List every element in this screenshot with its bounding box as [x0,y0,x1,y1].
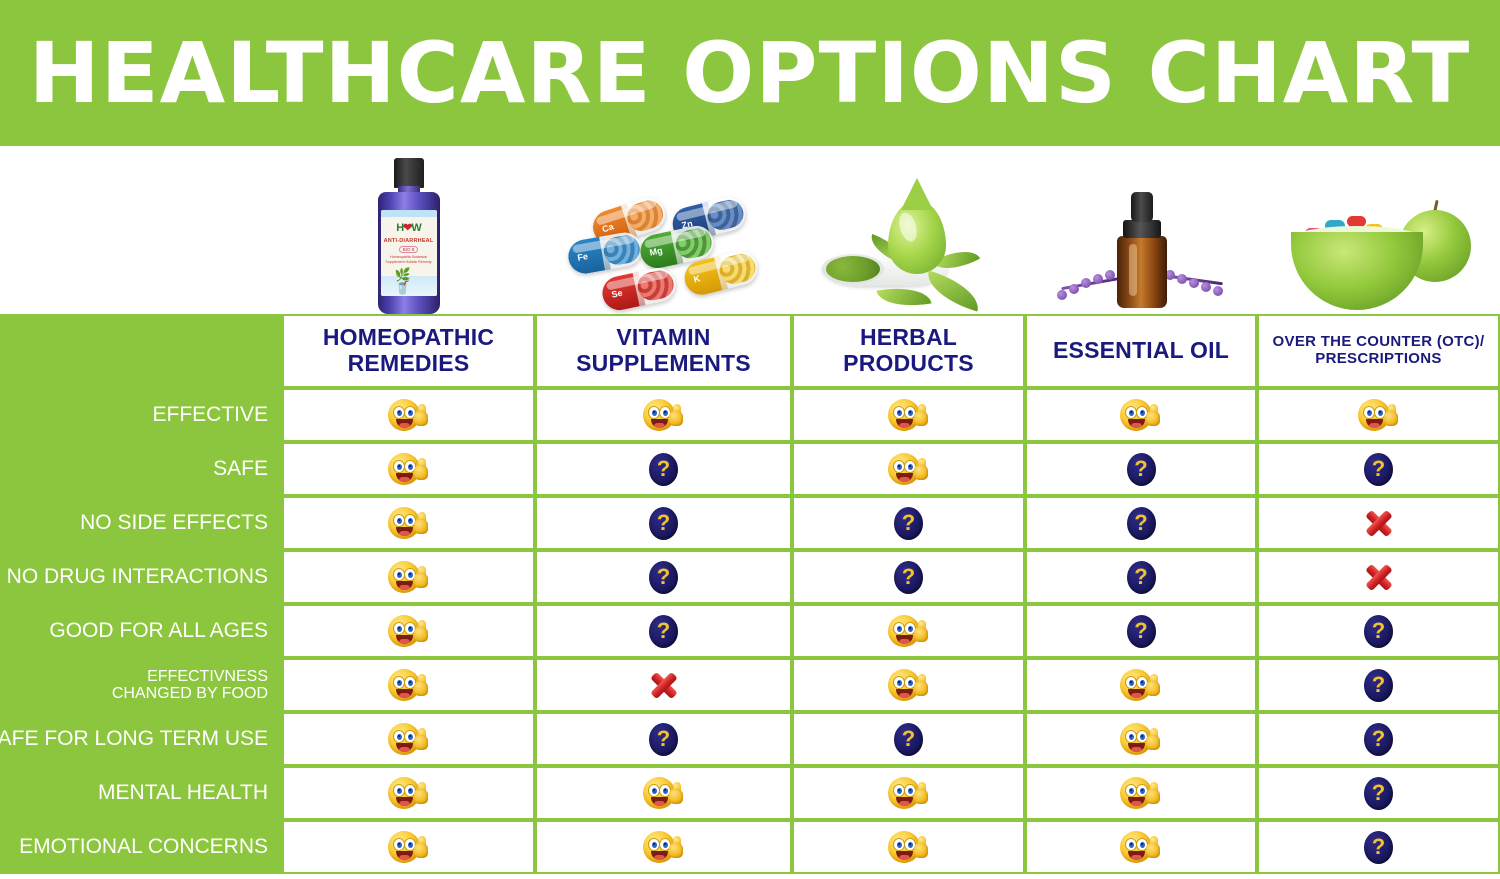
table-corner-cell [0,314,282,388]
smiley-thumbs-up-icon [888,614,930,648]
row-header-label: NO SIDE EFFECTS [80,512,268,535]
column-header-essential-oil: ESSENTIAL OIL [1025,314,1257,388]
smiley-thumbs-up-icon [643,776,685,810]
cell-value-maybe: ? [537,606,790,656]
cell-mental-health-otc: ? [1257,766,1500,820]
smiley-thumbs-up-icon [388,776,430,810]
cell-value-maybe: ? [1027,444,1255,494]
row-header-label: EFFECTIVNESS CHANGED BY FOOD [112,668,268,703]
thumb-up-icon [414,512,430,534]
question-mark-icon: ? [1127,507,1156,540]
capsule-red: Se [599,265,678,314]
thumb-up-icon [414,782,430,804]
leaf-icon [921,271,984,312]
column-header-line2: PRESCRIPTIONS [1273,351,1485,368]
cell-safe-for-long-term-use-essential-oil [1025,712,1257,766]
eye-icon [893,784,905,797]
cell-no-drug-interactions-homeopathic [282,550,535,604]
cell-emotional-concerns-vitamin [535,820,792,874]
table-row: GOOD FOR ALL AGES ? ? [0,604,1500,658]
thumb-up-icon [669,782,685,804]
cell-value-yes [1027,660,1255,710]
thumb-up-icon [1146,782,1162,804]
eye-icon [648,406,660,419]
cell-no-side-effects-otc [1257,496,1500,550]
cell-value-maybe: ? [537,498,790,548]
question-mark-icon: ? [1364,723,1393,756]
cell-value-maybe: ? [1259,660,1498,710]
cell-effectiveness-changed-by-food-homeopathic [282,658,535,712]
bottle-label: H❤W ANTI-DIARRHEAL BIO 8 Homeopathic Bot… [381,210,437,296]
column-header-vitamin: VITAMIN SUPPLEMENTS [535,314,792,388]
mouth-icon [896,689,913,698]
question-mark-icon: ? [649,561,678,594]
cell-no-drug-interactions-vitamin: ? [535,550,792,604]
red-x-icon [1364,563,1394,591]
cell-mental-health-homeopathic [282,766,535,820]
smiley-thumbs-up-icon [388,560,430,594]
row-header-emotional-concerns: EMOTIONAL CONCERNS [0,820,282,874]
cell-value-yes [794,444,1023,494]
row-header-label: NO DRUG INTERACTIONS [7,566,268,589]
mouth-icon [396,797,413,806]
smiley-thumbs-up-icon [1120,776,1162,810]
page-title: HEALTHCARE OPTIONS CHART [29,31,1471,115]
cell-value-yes [794,390,1023,440]
smiley-thumbs-up-icon [1120,398,1162,432]
smiley-thumbs-up-icon [388,722,430,756]
cell-effectiveness-changed-by-food-herbal [792,658,1025,712]
question-mark-icon: ? [649,723,678,756]
cell-mental-health-vitamin [535,766,792,820]
cell-value-yes [794,606,1023,656]
lavender-bud-icon [1069,284,1079,294]
row-header-label: SAFE FOR LONG TERM USE [0,728,268,751]
column-header-line2: REMEDIES [323,351,494,377]
cell-value-maybe: ? [1027,498,1255,548]
cell-safe-herbal [792,442,1025,496]
smiley-thumbs-up-icon [388,398,430,432]
capsule-tag: Fe [576,251,588,263]
smiley-thumbs-up-icon [388,614,430,648]
cell-value-yes [284,660,533,710]
lavender-bud-icon [1189,278,1199,288]
cell-value-maybe: ? [1259,444,1498,494]
thumb-up-icon [669,836,685,858]
thumb-up-icon [1146,404,1162,426]
column-header-label: VITAMIN SUPPLEMENTS [576,325,751,377]
row-header-label: EFFECTIVE [152,404,268,427]
thumb-up-icon [414,836,430,858]
essential-oil-image [1025,146,1257,314]
smiley-thumbs-up-icon [388,506,430,540]
eye-icon [393,568,405,581]
cell-value-yes [537,822,790,872]
thumb-up-icon [414,458,430,480]
essential-oil-graphic [1053,190,1229,314]
thumb-up-icon [414,674,430,696]
table-header-row: HOMEOPATHIC REMEDIES VITAMIN SUPPLEMENTS… [0,314,1500,388]
column-header-line2: PRODUCTS [843,351,974,377]
smiley-thumbs-up-icon [1358,398,1400,432]
eye-icon [648,838,660,851]
label-top-stripe-icon [381,210,437,217]
cell-value-yes [794,660,1023,710]
apple-bowl-icon [1291,232,1423,310]
cell-safe-for-long-term-use-herbal: ? [792,712,1025,766]
cell-effective-essential-oil [1025,388,1257,442]
cell-good-for-all-ages-homeopathic [282,604,535,658]
table-row: EMOTIONAL CONCERNS [0,820,1500,874]
column-header-line2: SUPPLEMENTS [576,351,751,377]
mouth-icon [896,797,913,806]
question-mark-icon: ? [1127,453,1156,486]
cell-value-yes [284,714,533,764]
brand-logo: H❤W [396,221,421,234]
cell-value-yes [1027,768,1255,818]
product-image-strip: H❤W ANTI-DIARRHEAL BIO 8 Homeopathic Bot… [0,146,1500,314]
question-mark-icon: ? [1364,615,1393,648]
cell-mental-health-herbal [792,766,1025,820]
cell-value-yes [1027,390,1255,440]
thumb-up-icon [914,782,930,804]
column-header-herbal: HERBAL PRODUCTS [792,314,1025,388]
healthcare-options-table: HOMEOPATHIC REMEDIES VITAMIN SUPPLEMENTS… [0,314,1500,874]
question-mark-icon: ? [1364,453,1393,486]
column-header-label: HOMEOPATHIC REMEDIES [323,325,494,377]
cell-emotional-concerns-herbal [792,820,1025,874]
mouth-icon [396,851,413,860]
mouth-icon [1128,689,1145,698]
cell-value-maybe: ? [1259,822,1498,872]
cell-value-yes [794,768,1023,818]
otc-prescriptions-image [1257,146,1500,314]
cell-no-drug-interactions-herbal: ? [792,550,1025,604]
eye-icon [1363,406,1375,419]
question-mark-icon: ? [1364,831,1393,864]
row-header-label: SAFE [213,458,268,481]
mouth-icon [396,527,413,536]
cell-value-yes [1259,390,1498,440]
eye-icon [893,838,905,851]
column-header-line1: ESSENTIAL OIL [1053,338,1229,364]
oil-bottle-highlight-icon [1129,244,1137,296]
thumb-up-icon [1146,728,1162,750]
question-mark-icon: ? [1127,615,1156,648]
column-header-line1: VITAMIN [576,325,751,351]
smiley-thumbs-up-icon [388,668,430,702]
capsule-blue: Fe [565,230,644,276]
cell-value-no [537,660,790,710]
smiley-thumbs-up-icon [388,830,430,864]
cell-value-maybe: ? [1027,552,1255,602]
row-header-line1: EFFECTIVNESS [112,668,268,685]
question-mark-icon: ? [649,507,678,540]
cell-safe-for-long-term-use-otc: ? [1257,712,1500,766]
red-x-icon [649,671,679,699]
lavender-bud-icon [1201,282,1211,292]
dried-herbs-icon [826,256,880,282]
smiley-thumbs-up-icon [1120,722,1162,756]
row-header-no-drug-interactions: NO DRUG INTERACTIONS [0,550,282,604]
lavender-bud-icon [1177,274,1187,284]
column-header-otc: OVER THE COUNTER (OTC)/ PRESCRIPTIONS [1257,314,1500,388]
cell-no-drug-interactions-essential-oil: ? [1025,550,1257,604]
row-header-safe-for-long-term-use: SAFE FOR LONG TERM USE [0,712,282,766]
row-header-good-for-all-ages: GOOD FOR ALL AGES [0,604,282,658]
cell-value-maybe: ? [537,714,790,764]
herbal-graphic [816,194,1002,314]
cell-value-yes [284,606,533,656]
mouth-icon [396,419,413,428]
cell-value-yes [284,552,533,602]
cell-no-side-effects-homeopathic [282,496,535,550]
mouth-icon [896,635,913,644]
image-strip-spacer [0,146,282,314]
cell-no-drug-interactions-otc [1257,550,1500,604]
column-header-line1: OVER THE COUNTER (OTC)/ [1273,334,1485,351]
eye-icon [893,460,905,473]
table-row: EFFECTIVNESS CHANGED BY FOOD [0,658,1500,712]
eye-icon [393,514,405,527]
cell-emotional-concerns-homeopathic [282,820,535,874]
cell-effective-vitamin [535,388,792,442]
green-droplet-icon [888,200,946,274]
cell-value-maybe: ? [537,444,790,494]
mortar-herbs-icon: 🌿🥤 [395,268,423,294]
lavender-bud-icon [1213,286,1223,296]
cell-good-for-all-ages-otc: ? [1257,604,1500,658]
homeopathic-bottle-image: H❤W ANTI-DIARRHEAL BIO 8 Homeopathic Bot… [282,146,535,314]
question-mark-icon: ? [649,453,678,486]
cell-safe-homeopathic [282,442,535,496]
cell-safe-otc: ? [1257,442,1500,496]
red-x-icon [1364,509,1394,537]
table-row: SAFE FOR LONG TERM USE ? ? [0,712,1500,766]
table-row: EFFECTIVE [0,388,1500,442]
mouth-icon [396,581,413,590]
cell-value-yes [284,390,533,440]
thumb-up-icon [414,404,430,426]
thumb-up-icon [914,620,930,642]
eye-icon [393,460,405,473]
cell-value-maybe: ? [537,552,790,602]
bottle-label-subtitle: Homeopathic Botanical Supplement Holisti… [381,255,437,264]
row-header-label: GOOD FOR ALL AGES [49,620,268,643]
cell-value-yes [1027,714,1255,764]
cell-value-no [1259,498,1498,548]
row-header-label: MENTAL HEALTH [98,782,268,805]
cell-value-maybe: ? [794,714,1023,764]
lavender-bud-icon [1057,290,1067,300]
cell-value-maybe: ? [1027,606,1255,656]
herbal-products-image [792,146,1025,314]
cell-effectiveness-changed-by-food-vitamin [535,658,792,712]
mouth-icon [396,635,413,644]
smiley-thumbs-up-icon [888,776,930,810]
thumb-up-icon [914,674,930,696]
cell-value-yes [537,768,790,818]
smiley-thumbs-up-icon [388,452,430,486]
cell-good-for-all-ages-vitamin: ? [535,604,792,658]
column-header-line1: HERBAL [843,325,974,351]
mouth-icon [1128,419,1145,428]
cell-value-maybe: ? [1259,768,1498,818]
cell-value-maybe: ? [794,498,1023,548]
mouth-icon [1366,419,1383,428]
smiley-thumbs-up-icon [643,830,685,864]
cell-effective-otc [1257,388,1500,442]
cell-value-yes [284,498,533,548]
cell-no-side-effects-vitamin: ? [535,496,792,550]
thumb-up-icon [914,404,930,426]
thumb-up-icon [414,620,430,642]
mouth-icon [896,419,913,428]
table-row: NO DRUG INTERACTIONS ? ? ? [0,550,1500,604]
column-header-label: OVER THE COUNTER (OTC)/ PRESCRIPTIONS [1273,334,1485,368]
cell-effective-herbal [792,388,1025,442]
cell-emotional-concerns-essential-oil [1025,820,1257,874]
cell-value-yes [284,444,533,494]
column-header-line1: HOMEOPATHIC [323,325,494,351]
cell-value-yes [537,390,790,440]
thumb-up-icon [914,836,930,858]
title-banner: HEALTHCARE OPTIONS CHART [0,0,1500,146]
bottle-label-pill: BIO 8 [399,246,419,253]
bottle-label-title: ANTI-DIARRHEAL [384,238,434,244]
otc-graphic [1281,188,1477,314]
smiley-thumbs-up-icon [1120,668,1162,702]
eye-icon [393,784,405,797]
row-header-no-side-effects: NO SIDE EFFECTS [0,496,282,550]
eye-icon [893,676,905,689]
smiley-thumbs-up-icon [643,398,685,432]
cell-good-for-all-ages-essential-oil: ? [1025,604,1257,658]
cell-value-maybe: ? [794,552,1023,602]
cell-effectiveness-changed-by-food-essential-oil [1025,658,1257,712]
cell-value-yes [1027,822,1255,872]
dropper-bulb-icon [1131,192,1153,222]
mouth-icon [651,851,668,860]
row-header-safe: SAFE [0,442,282,496]
row-header-line2: CHANGED BY FOOD [112,685,268,702]
eye-icon [393,676,405,689]
column-header-homeopathic: HOMEOPATHIC REMEDIES [282,314,535,388]
eye-icon [893,406,905,419]
cell-effective-homeopathic [282,388,535,442]
cell-effectiveness-changed-by-food-otc: ? [1257,658,1500,712]
column-header-label: ESSENTIAL OIL [1053,338,1229,364]
eye-icon [393,730,405,743]
lavender-bud-icon [1081,278,1091,288]
cell-safe-for-long-term-use-homeopathic [282,712,535,766]
lavender-bud-icon [1105,270,1115,280]
table-row: SAFE ? ? ? [0,442,1500,496]
question-mark-icon: ? [1364,669,1393,702]
mouth-icon [896,851,913,860]
lavender-bud-icon [1093,274,1103,284]
eye-icon [893,622,905,635]
mouth-icon [396,743,413,752]
cell-good-for-all-ages-herbal [792,604,1025,658]
cell-value-yes [284,822,533,872]
cell-value-yes [794,822,1023,872]
question-mark-icon: ? [649,615,678,648]
mouth-icon [896,473,913,482]
cell-mental-health-essential-oil [1025,766,1257,820]
smiley-thumbs-up-icon [1120,830,1162,864]
cell-no-side-effects-essential-oil: ? [1025,496,1257,550]
thumb-up-icon [414,566,430,588]
vitamin-capsules-image: Ca Zn Fe Mg [535,146,792,314]
eye-icon [393,622,405,635]
oil-bottle-icon [1117,236,1167,308]
mouth-icon [651,797,668,806]
row-header-effectiveness-changed-by-food: EFFECTIVNESS CHANGED BY FOOD [0,658,282,712]
bottle-cap-icon [394,158,424,188]
column-header-label: HERBAL PRODUCTS [843,325,974,377]
table-row: NO SIDE EFFECTS ? ? ? [0,496,1500,550]
leaf-icon [876,282,931,313]
mouth-icon [1128,851,1145,860]
table-row: MENTAL HEALTH [0,766,1500,820]
row-header-effective: EFFECTIVE [0,388,282,442]
smiley-thumbs-up-icon [888,452,930,486]
dropper-collar-icon [1123,220,1161,238]
question-mark-icon: ? [1364,777,1393,810]
mouth-icon [651,419,668,428]
cell-safe-vitamin: ? [535,442,792,496]
bottle-graphic: H❤W ANTI-DIARRHEAL BIO 8 Homeopathic Bot… [378,158,440,314]
thumb-up-icon [1384,404,1400,426]
eye-icon [648,784,660,797]
question-mark-icon: ? [894,723,923,756]
cell-value-yes [284,768,533,818]
question-mark-icon: ? [894,507,923,540]
question-mark-icon: ? [1127,561,1156,594]
row-header-mental-health: MENTAL HEALTH [0,766,282,820]
smiley-thumbs-up-icon [888,398,930,432]
eye-icon [393,838,405,851]
capsules-graphic: Ca Zn Fe Mg [564,202,764,314]
question-mark-icon: ? [894,561,923,594]
cell-no-side-effects-herbal: ? [792,496,1025,550]
smiley-thumbs-up-icon [888,830,930,864]
cell-value-maybe: ? [1259,606,1498,656]
thumb-up-icon [669,404,685,426]
eye-icon [393,406,405,419]
thumb-up-icon [414,728,430,750]
cell-emotional-concerns-otc: ? [1257,820,1500,874]
cell-safe-essential-oil: ? [1025,442,1257,496]
row-header-label: EMOTIONAL CONCERNS [19,836,268,859]
thumb-up-icon [1146,836,1162,858]
mouth-icon [396,473,413,482]
thumb-up-icon [1146,674,1162,696]
smiley-thumbs-up-icon [888,668,930,702]
mouth-icon [1128,797,1145,806]
mouth-icon [1128,743,1145,752]
cell-value-maybe: ? [1259,714,1498,764]
thumb-up-icon [914,458,930,480]
mouth-icon [396,689,413,698]
cell-value-no [1259,552,1498,602]
cell-safe-for-long-term-use-vitamin: ? [535,712,792,766]
